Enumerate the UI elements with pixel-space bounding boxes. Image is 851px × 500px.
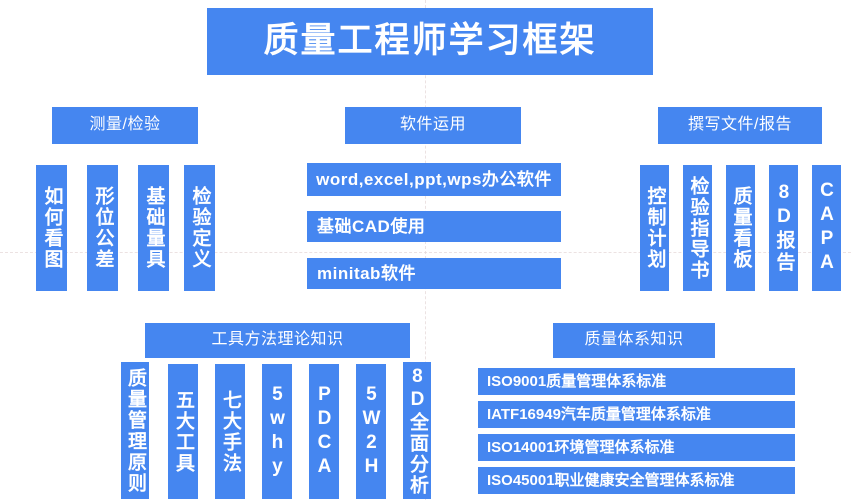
slide-canvas: 质量工程师学习框架 测量/检验 如何看图 形位公差 基础量具 检验定义 软件运用… bbox=[0, 0, 851, 500]
system-item-3[interactable]: ISO14001环境管理体系标准 bbox=[478, 434, 795, 461]
system-item-1[interactable]: ISO9001质量管理体系标准 bbox=[478, 368, 795, 395]
page-title: 质量工程师学习框架 bbox=[207, 8, 653, 75]
section-header-tools[interactable]: 工具方法理论知识 bbox=[145, 323, 410, 358]
section-header-system[interactable]: 质量体系知识 bbox=[553, 323, 715, 358]
documents-item-5[interactable]: CAPA bbox=[812, 165, 841, 291]
section-header-software[interactable]: 软件运用 bbox=[345, 107, 521, 144]
tools-item-2[interactable]: 五大工具 bbox=[168, 364, 198, 499]
documents-item-1[interactable]: 控制计划 bbox=[640, 165, 669, 291]
software-item-3[interactable]: minitab软件 bbox=[307, 258, 561, 289]
tools-item-6[interactable]: 5W2H bbox=[356, 364, 386, 499]
tools-item-1[interactable]: 质量管理原则 bbox=[121, 362, 149, 499]
tools-item-7[interactable]: 8D全面分析 bbox=[403, 362, 431, 499]
section-header-measurement[interactable]: 测量/检验 bbox=[52, 107, 198, 144]
tools-item-3[interactable]: 七大手法 bbox=[215, 364, 245, 499]
documents-item-3[interactable]: 质量看板 bbox=[726, 165, 755, 291]
system-item-4[interactable]: ISO45001职业健康安全管理体系标准 bbox=[478, 467, 795, 494]
section-header-documents[interactable]: 撰写文件/报告 bbox=[658, 107, 822, 144]
software-item-1[interactable]: word,excel,ppt,wps办公软件 bbox=[307, 163, 561, 196]
documents-item-2[interactable]: 检验指导书 bbox=[683, 165, 712, 291]
measurement-item-4[interactable]: 检验定义 bbox=[184, 165, 215, 291]
measurement-item-1[interactable]: 如何看图 bbox=[36, 165, 67, 291]
system-item-2[interactable]: IATF16949汽车质量管理体系标准 bbox=[478, 401, 795, 428]
documents-item-4[interactable]: 8D报告 bbox=[769, 165, 798, 291]
software-item-2[interactable]: 基础CAD使用 bbox=[307, 211, 561, 242]
measurement-item-2[interactable]: 形位公差 bbox=[87, 165, 118, 291]
measurement-item-3[interactable]: 基础量具 bbox=[138, 165, 169, 291]
tools-item-4[interactable]: 5why bbox=[262, 364, 292, 499]
tools-item-5[interactable]: PDCA bbox=[309, 364, 339, 499]
